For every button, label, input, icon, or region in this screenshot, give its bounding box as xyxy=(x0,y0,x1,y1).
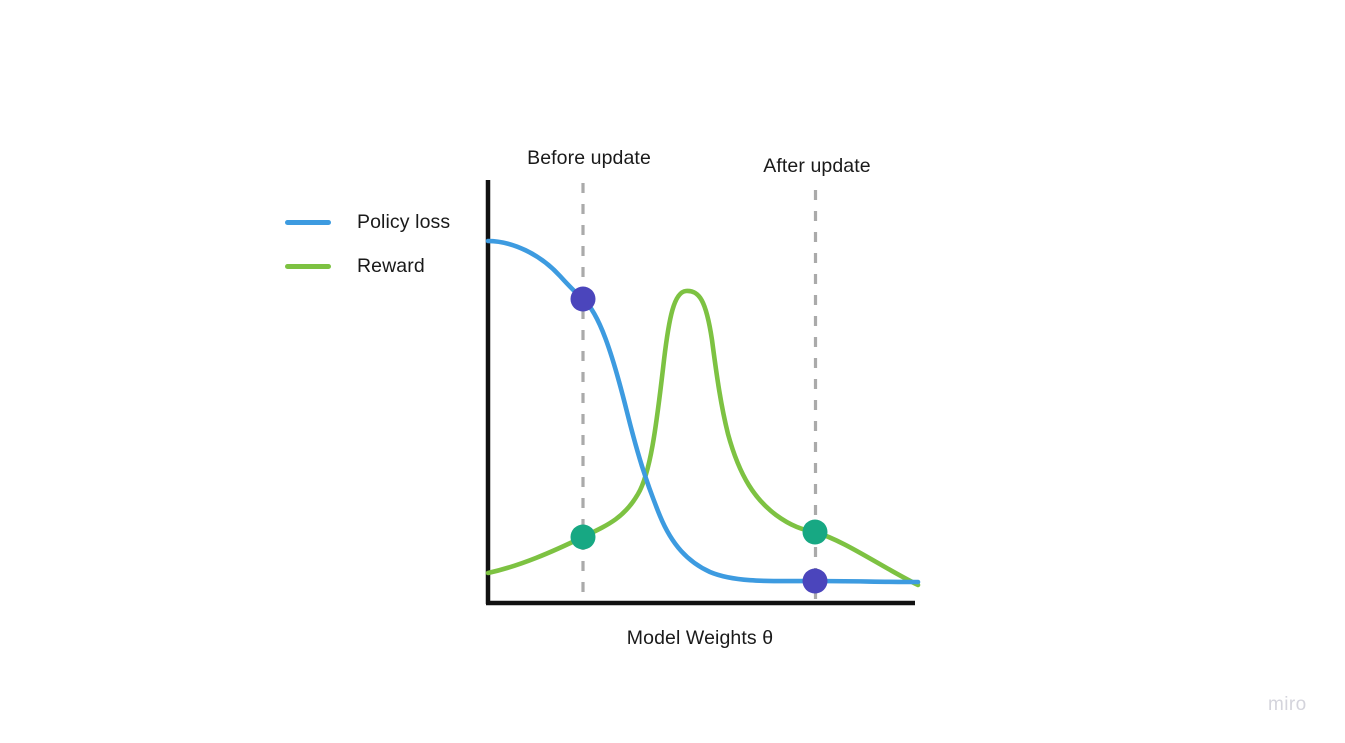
legend-label-policy-loss: Policy loss xyxy=(357,211,450,234)
marker-reward-after[interactable] xyxy=(803,520,828,545)
legend-swatch-icon-reward xyxy=(285,264,331,269)
legend-label-reward: Reward xyxy=(357,255,425,278)
marker-policy-loss-after[interactable] xyxy=(803,569,828,594)
marker-reward-before[interactable] xyxy=(571,525,596,550)
chart-container: Policy loss Reward Before update After u… xyxy=(0,0,1345,743)
x-axis-title: Model Weights θ xyxy=(627,627,773,650)
annotation-label-after-update: After update xyxy=(763,155,870,178)
annotation-label-before-update: Before update xyxy=(527,147,651,170)
legend-item-reward[interactable]: Reward xyxy=(285,244,545,288)
legend-swatch-icon-policy-loss xyxy=(285,220,331,225)
marker-policy-loss-before[interactable] xyxy=(571,287,596,312)
legend-item-policy-loss[interactable]: Policy loss xyxy=(285,200,545,244)
series-line-policy-loss xyxy=(488,241,918,582)
miro-watermark: miro xyxy=(1268,694,1307,716)
series-line-reward xyxy=(488,291,918,585)
chart-legend: Policy loss Reward xyxy=(285,200,545,288)
